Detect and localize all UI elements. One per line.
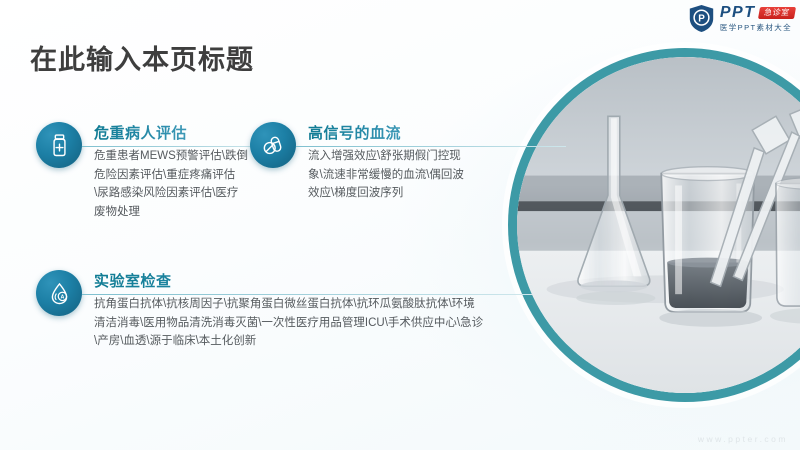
medicine-bottle-icon [36, 122, 82, 168]
site-watermark: www.ppter.com [698, 434, 788, 444]
lab-glassware-illustration [517, 57, 800, 393]
shield-icon: P [688, 4, 715, 33]
shield-letter: P [698, 13, 705, 24]
block-text: 流入增强效应\舒张期假门控现象\流速非常缓慢的血流\偶回波效应\梯度回波序列 [308, 147, 468, 203]
lab-photo-circle [508, 48, 800, 402]
block-text: 抗角蛋白抗体\抗核周因子\抗聚角蛋白微丝蛋白抗体\抗环瓜氨酸肽抗体\环境清洁消毒… [94, 295, 484, 351]
pills-icon [250, 122, 296, 168]
block-heading: 实验室检查 [94, 270, 484, 291]
block-heading: 高信号的血流 [308, 122, 468, 143]
logo-badge: 急诊室 [757, 7, 795, 19]
blood-drop-icon: A [36, 270, 82, 316]
page-title: 在此输入本页标题 [30, 38, 254, 77]
block-heading: 危重病人评估 [94, 122, 249, 143]
lab-photo-image [517, 57, 800, 393]
brand-logo: P PPT 急诊室 医学PPT素材大全 [688, 4, 794, 33]
block-text: 危重患者MEWS预警评估\跌倒危险因素评估\重症疼痛评估\尿路感染风险因素评估\… [94, 147, 249, 222]
logo-subtitle: 医学PPT素材大全 [720, 24, 794, 32]
logo-brand-text: PPT [720, 5, 756, 21]
slide-canvas: P PPT 急诊室 医学PPT素材大全 在此输入本页标题 危重病人评估 危重患者… [0, 0, 800, 450]
svg-text:A: A [60, 294, 64, 300]
